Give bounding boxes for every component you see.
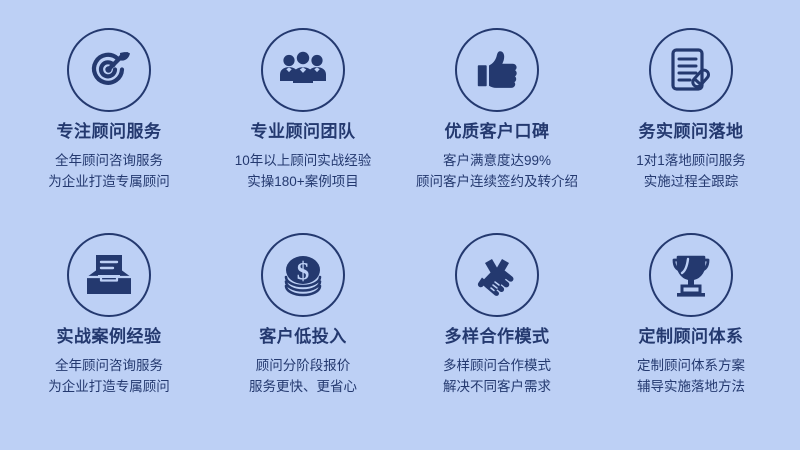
target-arrow-icon — [84, 45, 134, 95]
feature-card-case-experience[interactable]: 实战案例经验 全年顾问咨询服务 为企业打造专属顾问 — [12, 227, 206, 432]
feature-title: 专注顾问服务 — [57, 123, 162, 142]
feature-card-cooperation-modes[interactable]: 多样合作模式 多样顾问合作模式 解决不同客户需求 — [400, 227, 594, 432]
dollar-coins-icon: $ — [278, 250, 328, 300]
feature-desc-line1: 客户满意度达99% — [443, 151, 551, 172]
document-pen-icon — [666, 45, 716, 95]
features-grid: 专注顾问服务 全年顾问咨询服务 为企业打造专属顾问 — [0, 0, 800, 450]
feature-card-custom-system[interactable]: 定制顾问体系 定制顾问体系方案 辅导实施落地方法 — [594, 227, 788, 432]
feature-desc-line2: 解决不同客户需求 — [443, 377, 551, 398]
feature-title: 优质客户口碑 — [445, 123, 550, 142]
icon-circle — [649, 233, 733, 317]
feature-title: 定制顾问体系 — [639, 328, 744, 347]
feature-title: 务实顾问落地 — [639, 123, 744, 142]
inbox-tray-icon — [84, 250, 134, 300]
feature-desc-line1: 多样顾问合作模式 — [443, 356, 551, 377]
feature-desc-line1: 定制顾问体系方案 — [637, 356, 745, 377]
feature-card-focus-advisory[interactable]: 专注顾问服务 全年顾问咨询服务 为企业打造专属顾问 — [12, 22, 206, 227]
icon-circle: $ — [261, 233, 345, 317]
feature-desc-line2: 顾问客户连续签约及转介绍 — [416, 172, 578, 193]
icon-circle — [455, 28, 539, 112]
icon-circle — [455, 233, 539, 317]
icon-circle — [67, 233, 151, 317]
feature-card-professional-team[interactable]: 专业顾问团队 10年以上顾问实战经验 实操180+案例项目 — [206, 22, 400, 227]
feature-desc-line1: 1对1落地顾问服务 — [636, 151, 746, 172]
feature-title: 客户低投入 — [259, 328, 347, 347]
feature-title: 专业顾问团队 — [251, 123, 356, 142]
feature-desc-line2: 服务更快、更省心 — [249, 377, 357, 398]
trophy-icon — [666, 250, 716, 300]
feature-title: 多样合作模式 — [445, 328, 550, 347]
icon-circle — [67, 28, 151, 112]
feature-title: 实战案例经验 — [57, 328, 162, 347]
icon-circle — [649, 28, 733, 112]
feature-desc-line1: 全年顾问咨询服务 — [55, 151, 163, 172]
feature-desc-line2: 为企业打造专属顾问 — [48, 172, 170, 193]
feature-desc-line2: 实操180+案例项目 — [247, 172, 358, 193]
feature-card-low-investment[interactable]: $ 客户低投入 顾问分阶段报价 服务更快、更省心 — [206, 227, 400, 432]
feature-card-practical-implementation[interactable]: 务实顾问落地 1对1落地顾问服务 实施过程全跟踪 — [594, 22, 788, 227]
handshake-icon — [471, 249, 523, 301]
feature-desc-line1: 全年顾问咨询服务 — [55, 356, 163, 377]
feature-desc-line2: 辅导实施落地方法 — [637, 377, 745, 398]
feature-desc-line1: 顾问分阶段报价 — [256, 356, 351, 377]
feature-desc-line2: 为企业打造专属顾问 — [48, 377, 170, 398]
svg-text:$: $ — [297, 259, 310, 286]
feature-desc-line1: 10年以上顾问实战经验 — [235, 151, 372, 172]
feature-card-client-reputation[interactable]: 优质客户口碑 客户满意度达99% 顾问客户连续签约及转介绍 — [400, 22, 594, 227]
team-people-icon — [278, 45, 328, 95]
thumbs-up-icon — [472, 45, 522, 95]
feature-desc-line2: 实施过程全跟踪 — [644, 172, 739, 193]
icon-circle — [261, 28, 345, 112]
